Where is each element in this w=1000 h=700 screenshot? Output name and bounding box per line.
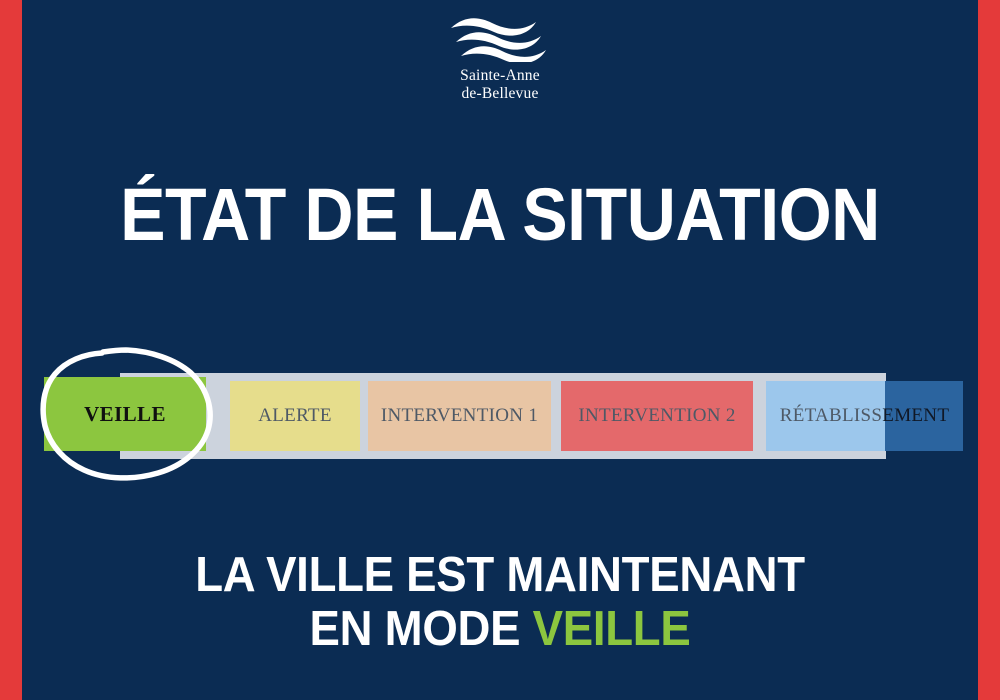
status-level-veille-active[interactable]: VEILLE (44, 377, 206, 451)
right-red-border-stripe (978, 0, 1000, 700)
status-level-retablissement[interactable] (766, 381, 886, 451)
status-message-line-1: LA VILLE EST MAINTENANT (35, 548, 965, 602)
status-scale-track: ALERTE INTERVENTION 1 INTERVENTION 2 (120, 373, 886, 459)
status-message-accent: VEILLE (533, 602, 691, 656)
status-message: LA VILLE EST MAINTENANT EN MODE VEILLE (35, 548, 965, 656)
status-level-alerte[interactable]: ALERTE (230, 381, 360, 451)
city-logo: Sainte-Anne de-Bellevue (0, 14, 1000, 102)
status-level-retablissement-extension (885, 381, 963, 451)
three-waves-icon (448, 14, 552, 62)
logo-line-2: de-Bellevue (0, 85, 1000, 103)
logo-wordmark: Sainte-Anne de-Bellevue (0, 67, 1000, 102)
logo-line-1: Sainte-Anne (0, 67, 1000, 85)
left-red-border-stripe (0, 0, 22, 700)
status-level-intervention-2[interactable]: INTERVENTION 2 (561, 381, 753, 451)
status-message-line-2: EN MODE VEILLE (35, 602, 965, 656)
page-title: ÉTAT DE LA SITUATION (40, 176, 960, 254)
status-message-prefix: EN MODE (310, 602, 533, 656)
poster-canvas: Sainte-Anne de-Bellevue ÉTAT DE LA SITUA… (0, 0, 1000, 700)
status-level-intervention-1[interactable]: INTERVENTION 1 (368, 381, 551, 451)
